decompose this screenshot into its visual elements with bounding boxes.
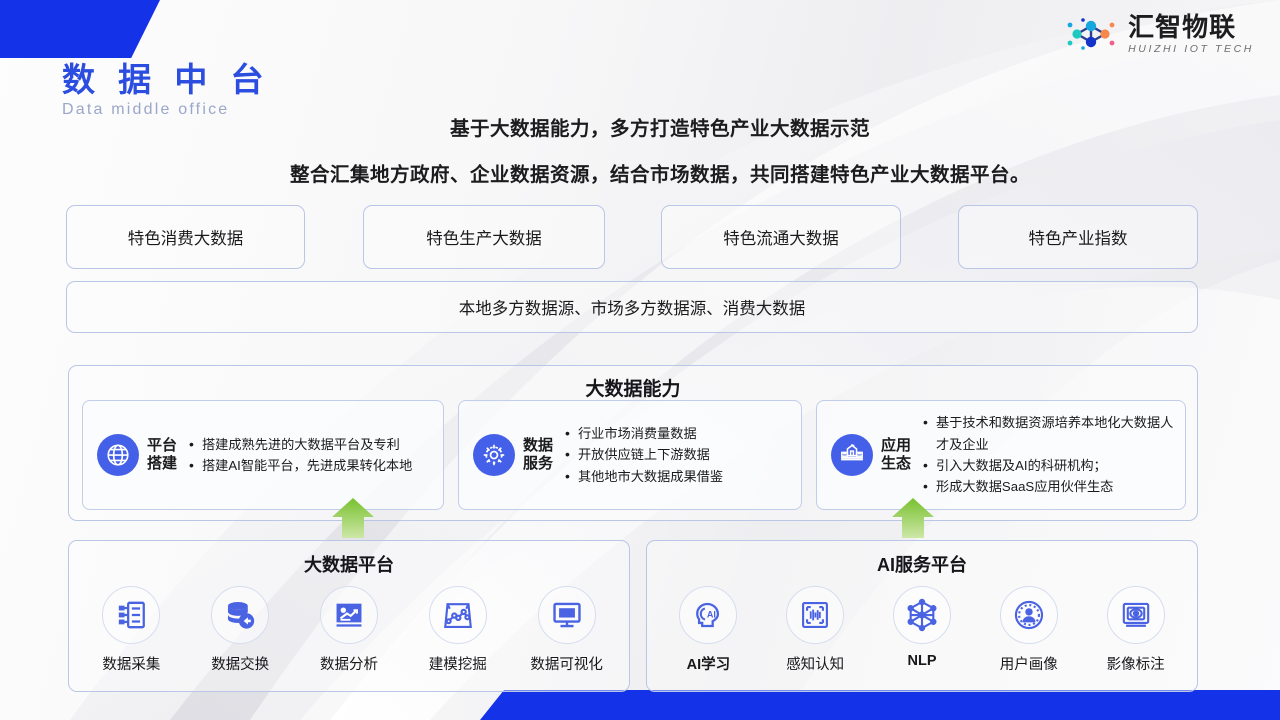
top-box-circulation[interactable]: 特色流通大数据	[661, 205, 901, 269]
capability-panel-label-line1: 数据	[523, 437, 553, 454]
platform-item-data-visualization[interactable]: 数据可视化	[519, 586, 615, 674]
capability-bullet-list: 搭建成熟先进的大数据平台及专利 搭建AI智能平台，先进成果转化本地	[187, 434, 443, 477]
top-box-label: 特色流通大数据	[723, 225, 839, 249]
capability-panel-label-line2: 服务	[523, 455, 553, 472]
nlp-network-icon	[893, 586, 951, 644]
up-arrow-icon	[330, 498, 376, 538]
list-item: 引入大数据及AI的科研机构；	[921, 455, 1185, 476]
globe-icon	[97, 434, 139, 476]
ai-head-icon: AI	[679, 586, 737, 644]
platform-item-label: 数据分析	[320, 653, 378, 674]
platform-item-ai-learning[interactable]: AI AI学习	[660, 586, 756, 674]
top-box-label: 特色产业指数	[1029, 225, 1128, 249]
capability-panel-data-service[interactable]: 数据 服务 行业市场消费量数据 开放供应链上下游数据 其他地市大数据成果借鉴	[458, 400, 802, 510]
capability-bullet-list: 基于技术和数据资源培养本地化大数据人才及企业 引入大数据及AI的科研机构； 形成…	[921, 412, 1185, 498]
capability-panel-label-line2: 生态	[881, 455, 911, 472]
platform-item-model-mining[interactable]: 建模挖掘	[410, 586, 506, 674]
company-logo: 汇智物联 HUIZHI IOT TECH	[1063, 14, 1254, 55]
database-exchange-icon	[211, 586, 269, 644]
platform-item-label: 数据交换	[211, 653, 269, 674]
scan-waveform-icon	[786, 586, 844, 644]
capability-panel-label-line1: 应用	[881, 437, 911, 454]
platform-item-label: 数据可视化	[530, 653, 603, 674]
capability-section: 大数据能力 平台 搭建 搭建成熟先进的大数据平台及专利 搭建AI智能平台，先进成…	[68, 365, 1198, 521]
platform-title: AI服务平台	[647, 551, 1197, 577]
logo-text-cn: 汇智物联	[1128, 14, 1254, 40]
platform-item-image-annotation[interactable]: 影像标注	[1088, 586, 1184, 674]
platform-item-user-profile[interactable]: 用户画像	[981, 586, 1077, 674]
image-eye-icon	[1107, 586, 1165, 644]
capability-panel-label-line1: 平台	[147, 437, 177, 454]
top-box-industry-index[interactable]: 特色产业指数	[958, 205, 1198, 269]
platform-item-label: 建模挖掘	[429, 653, 487, 674]
page-title: 数 据 中 台 Data middle office	[62, 62, 271, 119]
platform-item-nlp[interactable]: NLP	[874, 586, 970, 674]
platform-item-label: NLP	[907, 653, 936, 669]
chart-analysis-icon	[320, 586, 378, 644]
top-box-production[interactable]: 特色生产大数据	[363, 205, 605, 269]
up-arrow-icon	[890, 498, 936, 538]
model-mining-icon	[429, 586, 487, 644]
capability-title: 大数据能力	[69, 374, 1197, 401]
platform-item-data-collection[interactable]: 数据采集	[83, 586, 179, 674]
list-item: 搭建AI智能平台，先进成果转化本地	[187, 455, 443, 476]
capability-bullet-list: 行业市场消费量数据 开放供应链上下游数据 其他地市大数据成果借鉴	[563, 423, 801, 487]
headline-block: 基于大数据能力，多方打造特色产业大数据示范 整合汇集地方政府、企业数据资源，结合…	[160, 112, 1160, 187]
gear-icon	[473, 434, 515, 476]
headline-secondary: 整合汇集地方政府、企业数据资源，结合市场数据，共同搭建特色产业大数据平台。	[160, 158, 1160, 187]
platform-item-data-analysis[interactable]: 数据分析	[301, 586, 397, 674]
capability-panel-application-ecology[interactable]: 应用 生态 基于技术和数据资源培养本地化大数据人才及企业 引入大数据及AI的科研…	[816, 400, 1186, 510]
data-source-label: 本地多方数据源、市场多方数据源、消费大数据	[459, 295, 806, 319]
list-item: 其他地市大数据成果借鉴	[563, 466, 801, 487]
platform-item-data-exchange[interactable]: 数据交换	[192, 586, 288, 674]
list-item: 搭建成熟先进的大数据平台及专利	[187, 434, 443, 455]
page-title-cn: 数 据 中 台	[62, 62, 271, 99]
svg-text:AI: AI	[707, 609, 716, 619]
platform-bigdata: 大数据平台 数据采集	[68, 540, 630, 692]
platform-item-perception-cognition[interactable]: 感知认知	[767, 586, 863, 674]
platform-ai-service: AI服务平台 AI AI学习	[646, 540, 1198, 692]
capability-panel-label-line2: 搭建	[147, 455, 177, 472]
platform-item-label: 用户画像	[1000, 653, 1058, 674]
data-collection-icon	[102, 586, 160, 644]
logo-text-en: HUIZHI IOT TECH	[1128, 44, 1254, 55]
list-item: 基于技术和数据资源培养本地化大数据人才及企业	[921, 412, 1185, 455]
school-building-icon	[831, 434, 873, 476]
list-item: 形成大数据SaaS应用伙伴生态	[921, 476, 1185, 497]
platform-item-label: 影像标注	[1107, 653, 1165, 674]
platform-item-label: 数据采集	[102, 653, 160, 674]
platform-item-label: AI学习	[687, 653, 731, 674]
capability-panel-platform-build[interactable]: 平台 搭建 搭建成熟先进的大数据平台及专利 搭建AI智能平台，先进成果转化本地	[82, 400, 444, 510]
platform-title: 大数据平台	[69, 551, 629, 577]
list-item: 行业市场消费量数据	[563, 423, 801, 444]
platform-item-label: 感知认知	[786, 653, 844, 674]
top-box-label: 特色生产大数据	[426, 225, 542, 249]
top-box-consumption[interactable]: 特色消费大数据	[66, 205, 305, 269]
headline-primary: 基于大数据能力，多方打造特色产业大数据示范	[160, 112, 1160, 141]
top-box-label: 特色消费大数据	[128, 225, 244, 249]
data-source-bar[interactable]: 本地多方数据源、市场多方数据源、消费大数据	[66, 281, 1198, 333]
user-profile-icon	[1000, 586, 1058, 644]
list-item: 开放供应链上下游数据	[563, 444, 801, 465]
monitor-visual-icon	[538, 586, 596, 644]
molecule-network-icon	[1063, 14, 1119, 54]
